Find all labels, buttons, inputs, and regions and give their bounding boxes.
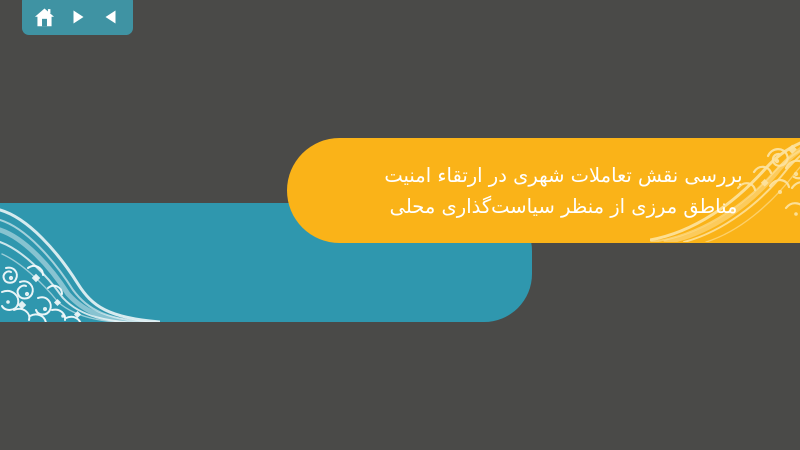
- forward-icon: [68, 7, 88, 27]
- navigation-bar: [22, 0, 133, 35]
- arabesque-corner-ornament-teal: [0, 206, 160, 322]
- arabesque-corner-ornament-orange: [650, 138, 800, 242]
- forward-button[interactable]: [65, 5, 91, 29]
- title-line-2: مناطق مرزی از منظر سیاست‌گذاری محلی: [390, 191, 738, 222]
- title-banner: بررسی نقش تعاملات شهری در ارتقاء امنیت م…: [287, 138, 800, 243]
- home-button[interactable]: [32, 5, 58, 29]
- back-icon: [101, 7, 121, 27]
- presentation-slide: بررسی نقش تعاملات شهری در ارتقاء امنیت م…: [0, 0, 800, 450]
- slide-title: بررسی نقش تعاملات شهری در ارتقاء امنیت م…: [287, 138, 800, 243]
- back-button[interactable]: [98, 5, 124, 29]
- home-icon: [34, 7, 55, 28]
- title-line-1: بررسی نقش تعاملات شهری در ارتقاء امنیت: [384, 160, 742, 191]
